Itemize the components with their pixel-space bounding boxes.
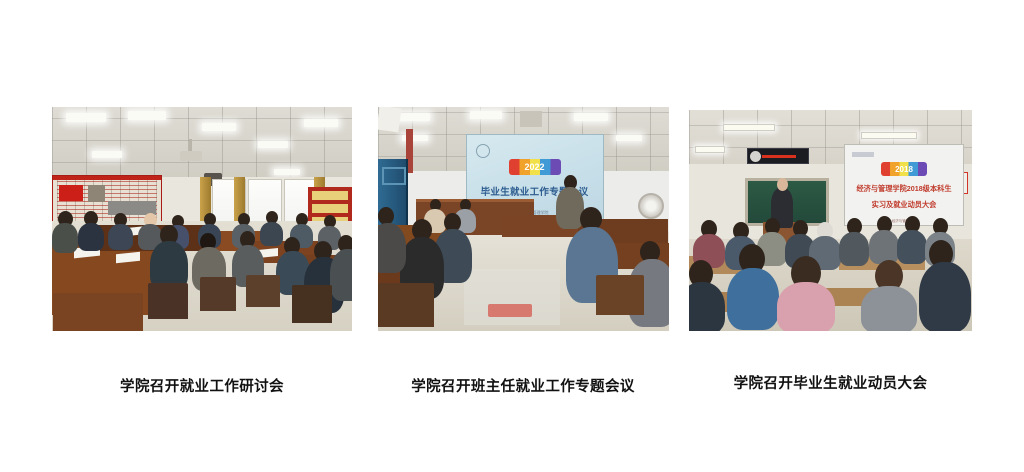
ceiling-light [574, 113, 608, 121]
chair [148, 283, 188, 319]
gallery-item[interactable]: 学院召开就业工作研讨会 [52, 107, 352, 396]
chair [378, 283, 434, 327]
photo-gallery: 学院召开就业工作研讨会 2022 毕业生就业工作专 [52, 107, 972, 407]
slide-logo-icon [852, 152, 874, 157]
projector [180, 151, 202, 161]
attendee [52, 223, 78, 253]
student [839, 232, 869, 266]
presenter [556, 187, 584, 229]
student [861, 286, 917, 331]
slide-logo-icon [476, 144, 490, 158]
ceiling-light [723, 124, 775, 131]
ceiling-light [861, 132, 917, 139]
ceiling-light [470, 111, 502, 119]
student [897, 230, 927, 264]
student [727, 268, 779, 330]
chair [246, 275, 280, 307]
student [689, 282, 725, 331]
page-root: 学院召开就业工作研讨会 2022 毕业生就业工作专 [0, 0, 1024, 472]
flag-graphic [59, 185, 83, 201]
photo-lecture-hall[interactable]: 2022 毕业生就业工作专题会议 经济与管理学院 [378, 107, 669, 331]
ceiling-light [66, 113, 106, 122]
student [869, 230, 899, 264]
gallery-item-caption: 学院召开毕业生就业动员大会 [734, 375, 928, 393]
attendee [108, 224, 133, 250]
slide-year-badge: 2022 [509, 159, 561, 175]
slide-title-line-2: 实习及就业动员大会 [872, 200, 937, 210]
ceiling-light [92, 151, 122, 158]
photo-conference-room[interactable] [52, 107, 352, 331]
slide-title-line-1: 经济与管理学院2018级本科生 [856, 184, 951, 194]
document [378, 107, 402, 132]
chair [53, 293, 143, 331]
ceiling-light [616, 135, 642, 141]
chair [596, 275, 644, 315]
ceiling-light [695, 146, 725, 153]
projection-screen: 2018 经济与管理学院2018级本科生 实习及就业动员大会 经济与管理学院 [844, 144, 964, 226]
projector [520, 111, 542, 127]
led-scrolling-banner [747, 148, 809, 164]
student [777, 282, 835, 331]
floor-fan [638, 193, 664, 219]
chair [200, 277, 236, 311]
attendee [378, 223, 406, 273]
gallery-item[interactable]: 2018 经济与管理学院2018级本科生 实习及就业动员大会 经济与管理学院 [689, 107, 972, 393]
slide-year-badge: 2018 [881, 162, 927, 176]
speaker-presenter-head [777, 178, 788, 191]
photo-classroom[interactable]: 2018 经济与管理学院2018级本科生 实习及就业动员大会 经济与管理学院 [689, 110, 972, 331]
student [919, 262, 971, 331]
portrait-graphic [88, 185, 105, 202]
ceiling-light [202, 123, 236, 131]
gallery-item[interactable]: 2022 毕业生就业工作专题会议 经济与管理学院 [378, 107, 669, 396]
ceiling-light [304, 119, 338, 127]
led-text-line [762, 155, 796, 158]
ceiling-light [274, 169, 300, 175]
gallery-item-caption: 学院召开班主任就业工作专题会议 [411, 378, 635, 396]
chair [292, 285, 332, 323]
attendee [260, 222, 283, 246]
floor-watermark-logo [488, 304, 532, 317]
ceiling-light [258, 141, 288, 148]
attendee [78, 223, 104, 251]
attendee [330, 249, 352, 301]
ceiling-light [128, 111, 166, 120]
gallery-item-caption: 学院召开就业工作研讨会 [120, 378, 284, 396]
